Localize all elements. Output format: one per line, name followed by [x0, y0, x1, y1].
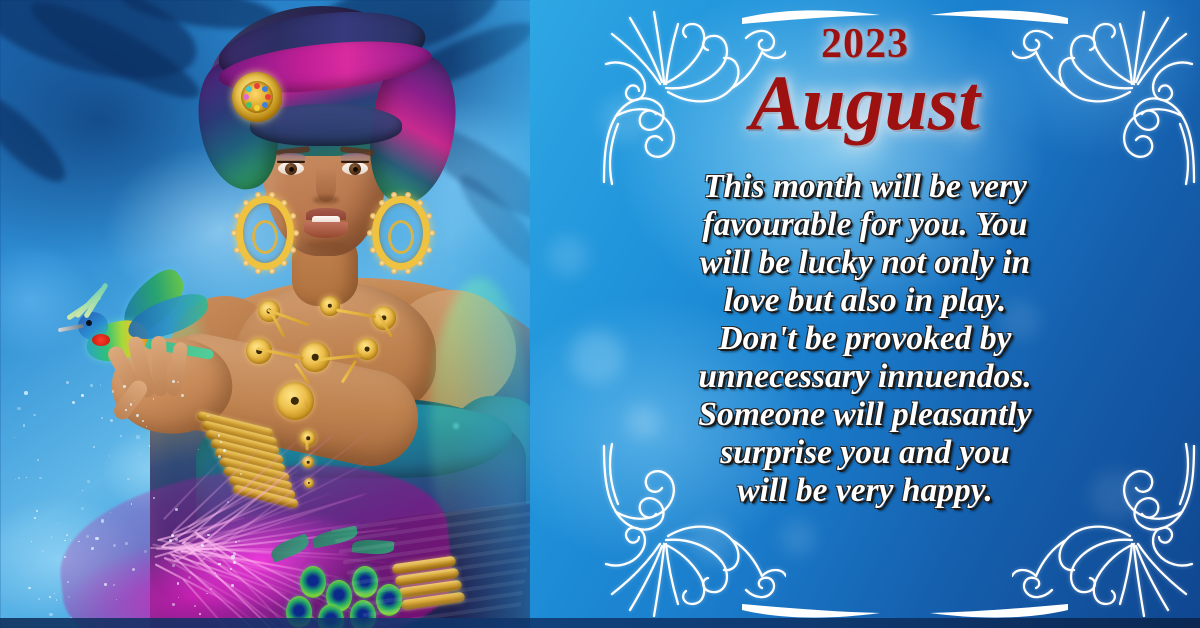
sparkle: [172, 564, 175, 567]
artwork-panel: [0, 0, 612, 628]
earring-bead: [234, 247, 240, 253]
sparkle: [218, 563, 220, 565]
bokeh-orb: [548, 236, 588, 276]
earring-bead: [293, 230, 299, 236]
earring-bead: [417, 200, 423, 206]
earring-bead: [281, 260, 287, 266]
sparkle: [153, 398, 154, 399]
pupil-right: [353, 167, 358, 172]
brooch-gem: [254, 105, 260, 111]
horoscope-banner: 2023 August This month will be very favo…: [0, 0, 1200, 628]
bokeh-orb: [570, 330, 624, 384]
brooch-gem: [262, 102, 268, 108]
sparkle: [125, 409, 127, 411]
earring-bead: [269, 268, 275, 274]
brooch-gem: [243, 94, 249, 100]
sparkle: [130, 403, 132, 405]
sparkle: [131, 503, 132, 504]
earring-bead: [391, 268, 397, 274]
sparkle: [231, 584, 234, 587]
eyelid-left: [277, 153, 305, 161]
earring-bead: [243, 260, 249, 266]
brooch-gem: [265, 94, 271, 100]
sparkle: [18, 477, 20, 479]
chin-shadow: [306, 240, 346, 250]
lower-lip: [304, 222, 348, 238]
sparkle: [169, 539, 172, 542]
eyelid-right: [341, 153, 369, 161]
finger-3: [151, 336, 168, 396]
sparkle: [113, 544, 116, 547]
sparkle: [110, 512, 111, 513]
sparkle: [64, 556, 66, 558]
earring-bead: [379, 260, 385, 266]
earring-inner-right: [388, 220, 414, 254]
earring-bead: [405, 268, 411, 274]
sparkle: [87, 480, 90, 483]
sparkle: [24, 391, 28, 395]
sparkle: [90, 384, 93, 387]
sparkle: [227, 501, 229, 503]
earring-bead: [429, 230, 435, 236]
sparkle: [125, 542, 128, 545]
sparkle: [215, 572, 217, 574]
necklace-medallion: [276, 382, 314, 420]
sparkle: [66, 381, 69, 384]
sparkle: [17, 407, 20, 410]
pupil-left: [289, 167, 294, 172]
earring-bead: [243, 200, 249, 206]
forecast-text: This month will be very favourable for y…: [650, 168, 1080, 510]
sparkle: [207, 534, 209, 536]
nose-shadow: [313, 196, 339, 204]
brooch-gem: [262, 86, 268, 92]
earring-bead: [405, 192, 411, 198]
earring-bead: [290, 213, 296, 219]
sparkle: [28, 587, 31, 590]
sparkle: [104, 583, 106, 585]
earring-bead: [417, 260, 423, 266]
sparkle: [216, 575, 218, 577]
brooch-gem: [254, 83, 260, 89]
fortune-teller-figure: [0, 0, 612, 628]
earring-inner-left: [252, 220, 278, 254]
earring-bead: [426, 213, 432, 219]
sparkle: [54, 593, 55, 594]
earring-bead: [255, 268, 261, 274]
sparkle: [66, 534, 68, 536]
hummingbird-throat: [92, 334, 110, 346]
peacock-eye-feather: [300, 566, 326, 598]
bokeh-orb: [780, 520, 816, 556]
sparkle: [231, 555, 235, 559]
brooch-gem: [246, 102, 252, 108]
sparkle: [101, 519, 104, 522]
earring-bead: [426, 247, 432, 253]
sparkle: [72, 401, 75, 404]
sparkle: [110, 419, 113, 422]
month-heading: August: [530, 58, 1200, 148]
earring-bead: [290, 247, 296, 253]
sparkle: [230, 568, 232, 570]
sparkle: [199, 613, 200, 614]
earring-bead: [379, 200, 385, 206]
sparkle: [36, 510, 38, 512]
earring-bead: [231, 230, 237, 236]
earring-bead: [367, 230, 373, 236]
sparkle: [31, 541, 32, 542]
bottom-edge: [0, 618, 1200, 628]
sparkle: [177, 582, 179, 584]
sparkle: [149, 445, 150, 446]
sparkle: [136, 435, 139, 438]
sparkle: [34, 517, 35, 518]
bokeh-orb: [690, 520, 734, 564]
hummingbird-eye: [86, 320, 92, 326]
necklace-medallion: [320, 296, 340, 316]
earring-bead: [281, 200, 287, 206]
sparkle: [175, 508, 178, 511]
earring-bead: [269, 192, 275, 198]
sparkle: [67, 581, 69, 583]
necklace-chain: [305, 440, 308, 450]
sparkle: [95, 537, 98, 540]
earring-bead: [370, 247, 376, 253]
sparkle: [172, 603, 175, 606]
sparkle: [49, 613, 52, 616]
bokeh-orb: [1090, 470, 1140, 520]
sparkle: [175, 538, 178, 541]
